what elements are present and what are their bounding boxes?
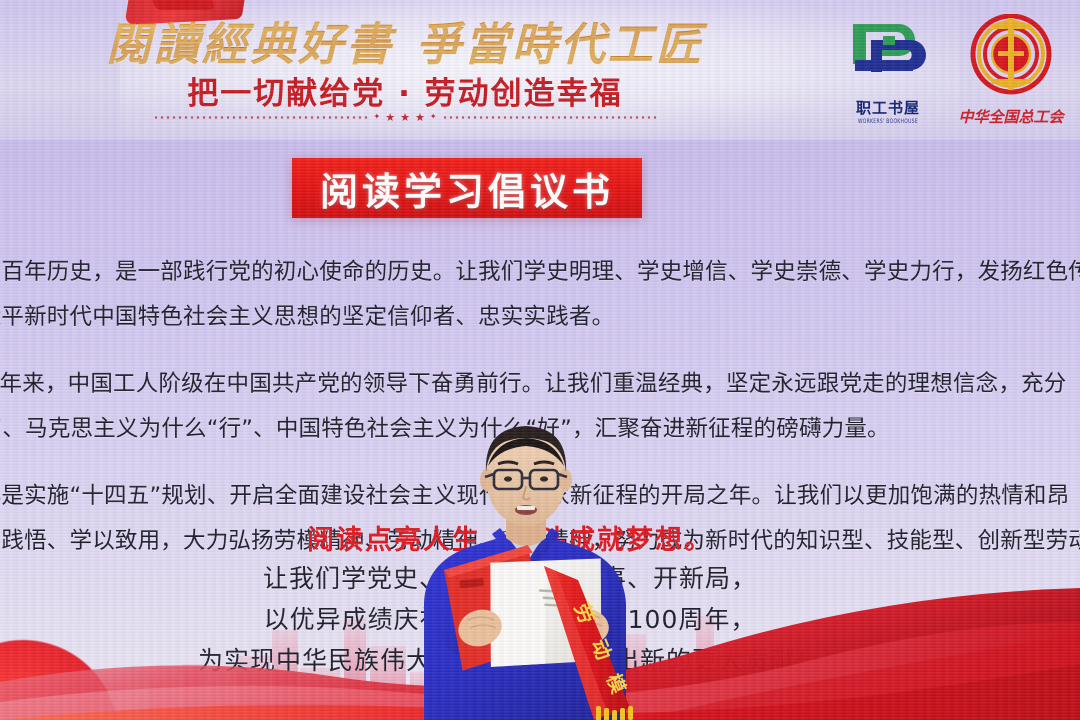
- paragraph-1-line-2: 习近平新时代中国特色社会主义思想的坚定信仰者、忠实实践者。: [0, 295, 1080, 340]
- banner-red-subheadline: 把一切献给党 · 劳动创造幸福: [0, 68, 810, 113]
- workers-bookhouse-logo: 职工书屋 WORKERS' BOOKHOUSE: [845, 18, 931, 128]
- speaker-person: 劳 动 模: [392, 414, 658, 720]
- acftu-name-cn: 中华全国总工会: [955, 106, 1067, 127]
- acftu-emblem-icon: [955, 14, 1067, 98]
- stage-backdrop-photo: 閱讀經典好書爭當時代工匠 把一切献给党 · 劳动创造幸福 ✦ ★ ★ ★ ✦ 职…: [0, 0, 1080, 720]
- banner-gold-headline-left: 閱讀經典好書: [106, 18, 394, 71]
- divider-dots-right: [442, 116, 657, 119]
- star-icon-1: ✦: [373, 113, 380, 121]
- star-icon-4: ★: [415, 112, 425, 123]
- star-icon-2: ★: [385, 112, 395, 123]
- dotted-star-divider: ✦ ★ ★ ★ ✦: [0, 110, 810, 124]
- workers-bookhouse-name-en: WORKERS' BOOKHOUSE: [845, 119, 931, 126]
- acftu-logo: 中华全国总工会: [955, 14, 1067, 132]
- banner-gold-headline: 閱讀經典好書爭當時代工匠: [0, 8, 810, 73]
- paragraph-2-line-1: 100年来，中国工人阶级在中国共产党的领导下奋勇前行。让我们重温经典，坚定永远跟…: [0, 362, 1080, 407]
- document-title-text: 阅读学习倡议书: [320, 161, 614, 216]
- book-house-monogram-icon: [845, 18, 931, 90]
- document-title-plate: 阅读学习倡议书: [292, 158, 642, 218]
- star-icon-5: ✦: [430, 113, 437, 121]
- banner-gold-headline-right: 爭當時代工匠: [416, 18, 704, 71]
- workers-bookhouse-name-cn: 职工书屋: [845, 97, 931, 118]
- paragraph-1-line-1: 党的百年历史，是一部践行党的初心使命的历史。让我们学史明理、学史增信、学史崇德、…: [0, 250, 1080, 295]
- divider-star-cluster: ✦ ★ ★ ★ ✦: [368, 112, 441, 123]
- divider-dots-left: [153, 116, 368, 119]
- star-icon-3: ★: [400, 112, 410, 123]
